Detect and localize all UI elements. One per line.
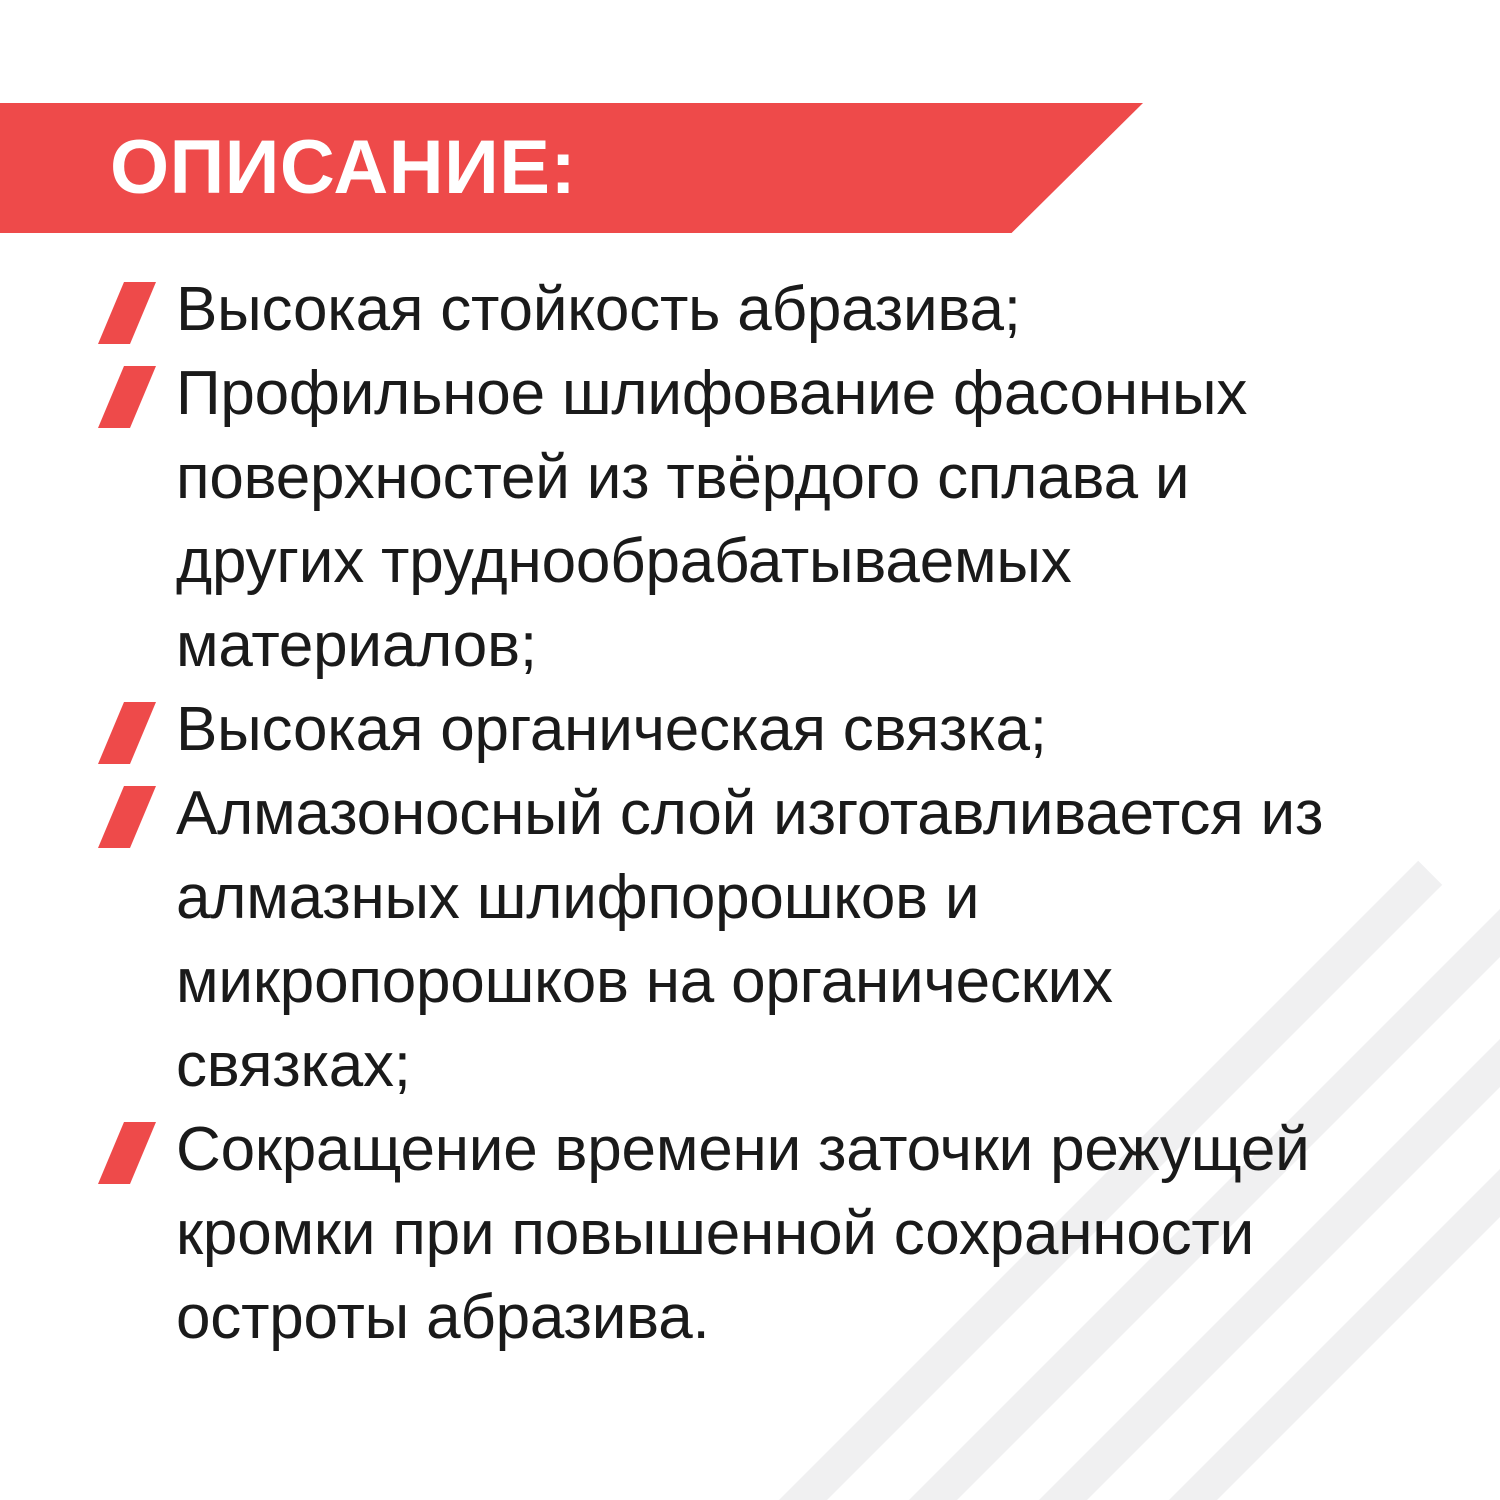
red-slash-bullet-icon: [98, 282, 156, 344]
list-item: Алмазоносный слой изготавливается из алм…: [96, 772, 1396, 1108]
list-item-label: Алмазоносный слой изготавливается из алм…: [176, 772, 1396, 1108]
list-item-label: Высокая стойкость абразива;: [176, 268, 1396, 352]
red-slash-bullet-icon: [98, 366, 156, 428]
list-item: Высокая органическая связка;: [96, 688, 1396, 772]
section-header-banner: ОПИСАНИЕ:: [0, 103, 1143, 233]
list-item-label: Профильное шлифование фасонных поверхнос…: [176, 352, 1396, 688]
list-item: Высокая стойкость абразива;: [96, 268, 1396, 352]
list-item: Профильное шлифование фасонных поверхнос…: [96, 352, 1396, 688]
red-slash-bullet-icon: [98, 702, 156, 764]
list-item: Сокращение времени заточки режущей кромк…: [96, 1108, 1396, 1360]
description-slide: ОПИСАНИЕ: Высокая стойкость абразива; Пр…: [0, 0, 1500, 1500]
page-title: ОПИСАНИЕ:: [110, 130, 576, 206]
red-slash-bullet-icon: [98, 1122, 156, 1184]
red-slash-bullet-icon: [98, 786, 156, 848]
list-item-label: Сокращение времени заточки режущей кромк…: [176, 1108, 1396, 1360]
description-list: Высокая стойкость абразива; Профильное ш…: [96, 268, 1396, 1360]
list-item-label: Высокая органическая связка;: [176, 688, 1396, 772]
